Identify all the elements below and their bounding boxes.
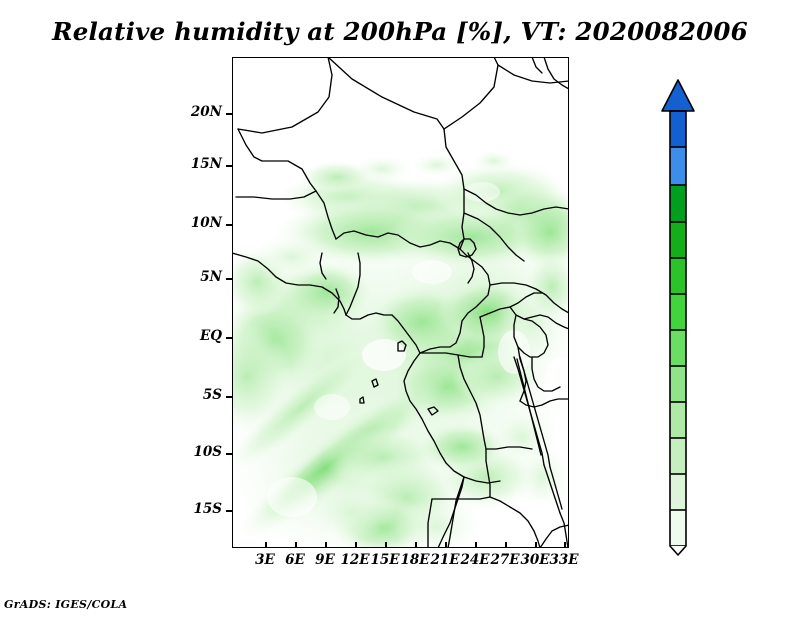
y-tick-label: 20N: [176, 104, 222, 120]
y-tick: [226, 224, 232, 226]
grads-plot-canvas: Relative humidity at 200hPa [%], VT: 202…: [0, 0, 800, 618]
x-tick: [265, 542, 267, 548]
x-tick: [505, 542, 507, 548]
x-tick: [445, 542, 447, 548]
x-tick: [385, 542, 387, 548]
y-tick: [226, 453, 232, 455]
x-tick-label: 33E: [544, 552, 584, 568]
y-tick-label: 15S: [176, 501, 222, 517]
y-tick: [226, 165, 232, 167]
y-tick: [226, 113, 232, 115]
x-tick: [325, 542, 327, 548]
y-tick-label: 10S: [176, 444, 222, 460]
x-tick: [355, 542, 357, 548]
y-tick: [226, 337, 232, 339]
colorbar-bands: [662, 80, 694, 555]
map-plot-area[interactable]: [232, 57, 569, 548]
x-tick: [535, 542, 537, 548]
y-tick-label: EQ: [176, 328, 222, 344]
y-tick-label: 5S: [176, 387, 222, 403]
y-tick-label: 15N: [176, 156, 222, 172]
colorbar[interactable]: 999795929085807570605040: [656, 74, 776, 560]
colorbar-svg: [656, 74, 776, 560]
x-tick: [415, 542, 417, 548]
y-tick-label: 5N: [176, 269, 222, 285]
y-tick-label: 10N: [176, 215, 222, 231]
y-tick: [226, 510, 232, 512]
y-tick: [226, 278, 232, 280]
x-tick: [564, 542, 566, 548]
x-tick: [475, 542, 477, 548]
page-title: Relative humidity at 200hPa [%], VT: 202…: [0, 17, 800, 46]
map-svg: [232, 57, 569, 548]
credit-text: GrADS: IGES/COLA: [4, 598, 127, 611]
x-tick: [295, 542, 297, 548]
y-tick: [226, 396, 232, 398]
